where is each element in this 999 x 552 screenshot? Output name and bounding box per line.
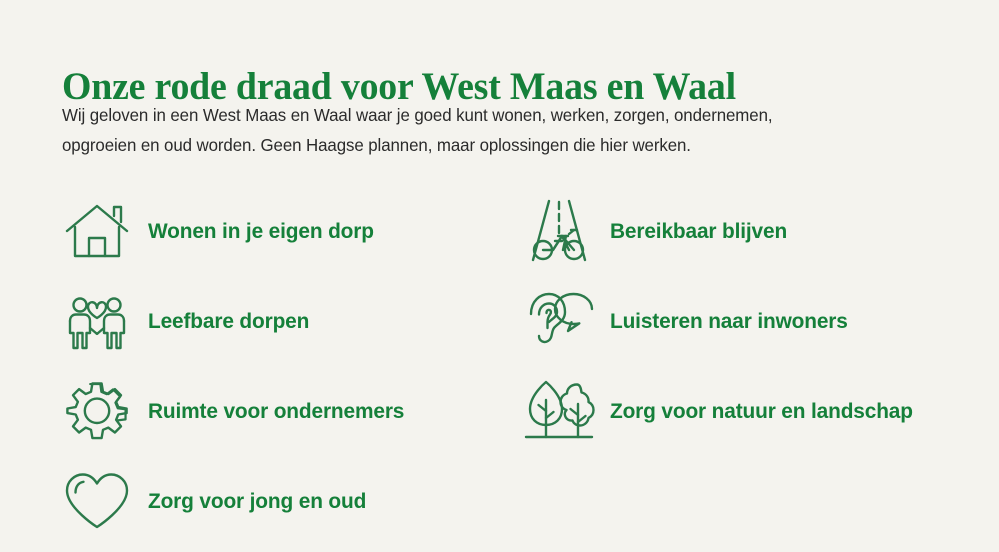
trees-icon [520, 372, 598, 450]
people-heart-icon [58, 282, 136, 360]
intro-line-2: opgroeien en oud worden. Geen Haagse pla… [62, 130, 931, 160]
pillar-item-bereikbaar: Bereikbaar blijven [520, 186, 922, 276]
pillar-label: Leefbare dorpen [148, 309, 309, 334]
house-icon [58, 192, 136, 270]
ear-speech-bubble-icon [520, 282, 598, 360]
pillar-label: Bereikbaar blijven [610, 219, 787, 244]
heart-icon [58, 462, 136, 540]
intro-paragraph: Wij geloven in een West Maas en Waal waa… [62, 100, 931, 160]
pillar-item-jong-en-oud: Zorg voor jong en oud [58, 456, 412, 546]
pillar-label: Ruimte voor ondernemers [148, 399, 404, 424]
pillar-item-luisteren: Luisteren naar inwoners [520, 276, 922, 366]
pillar-item-leefbare-dorpen: Leefbare dorpen [58, 276, 412, 366]
gear-icon [58, 372, 136, 450]
pillar-label: Zorg voor natuur en landschap [610, 399, 913, 424]
pillar-label: Luisteren naar inwoners [610, 309, 848, 334]
pillar-column-left: Wonen in je eigen dorp Leefbare dorpen [58, 186, 412, 546]
pillar-item-ondernemers: Ruimte voor ondernemers [58, 366, 412, 456]
pillar-item-natuur: Zorg voor natuur en landschap [520, 366, 922, 456]
infographic-page: Onze rode draad voor West Maas en Waal W… [0, 0, 999, 552]
road-bicycle-icon [520, 192, 598, 270]
intro-line-1: Wij geloven in een West Maas en Waal waa… [62, 100, 931, 130]
pillar-label: Zorg voor jong en oud [148, 489, 366, 514]
pillar-item-wonen: Wonen in je eigen dorp [58, 186, 412, 276]
pillar-column-right: Bereikbaar blijven Luisteren naar inwone… [520, 186, 922, 456]
pillar-label: Wonen in je eigen dorp [148, 219, 374, 244]
